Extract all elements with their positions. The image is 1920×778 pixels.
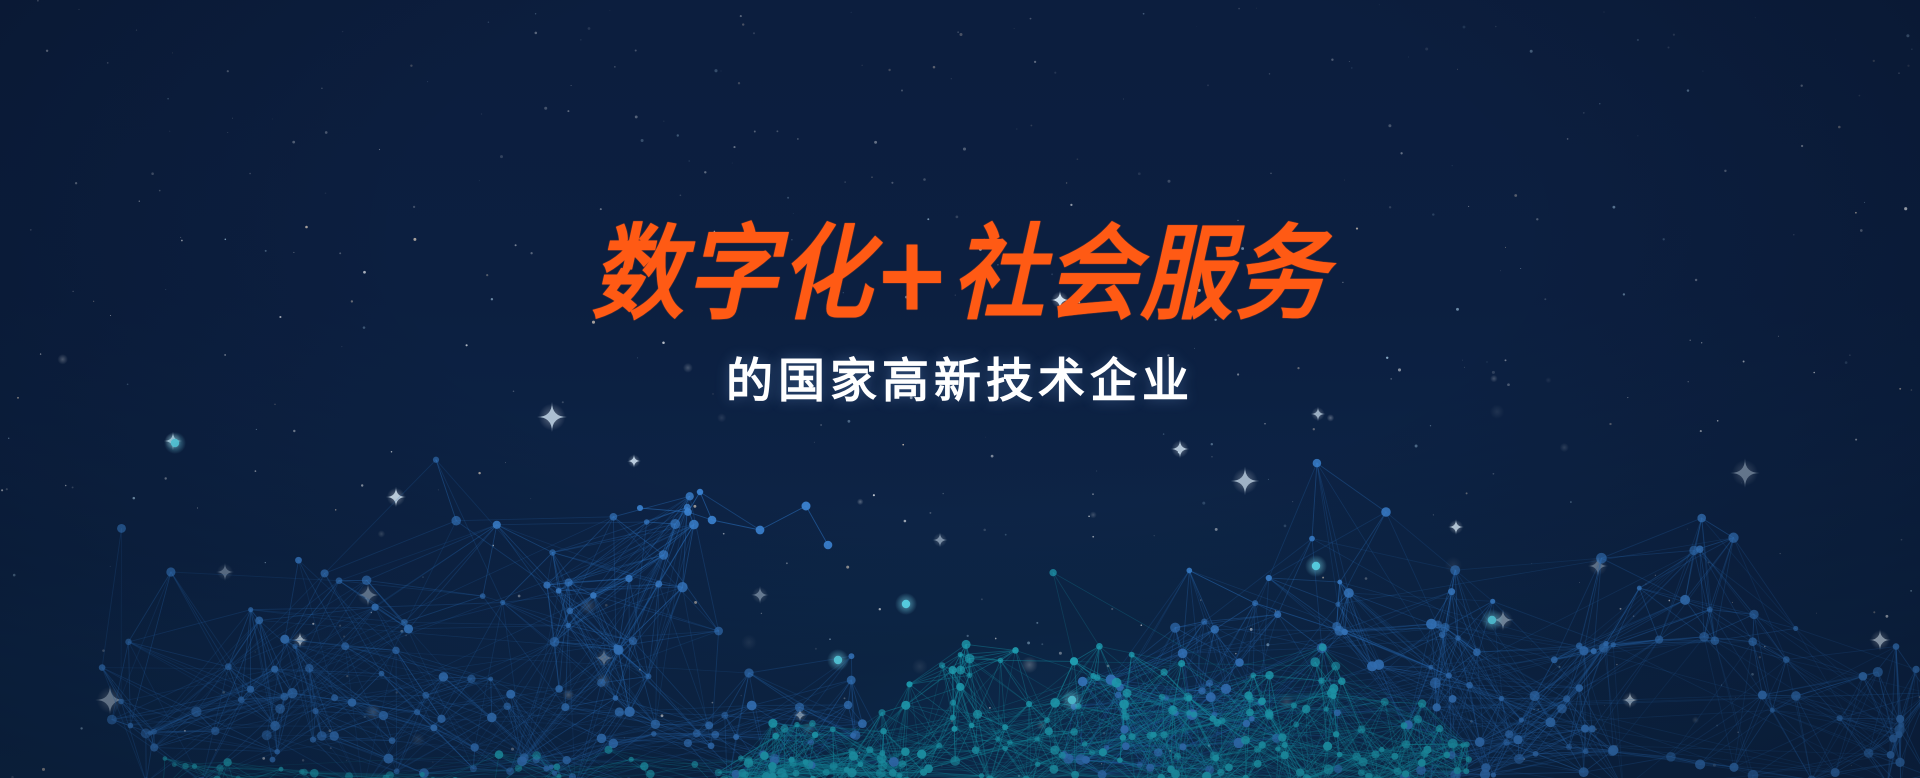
hero-text-block: 数字化+社会服务 的国家高新技术企业	[0, 222, 1920, 411]
hero-banner: 数字化+社会服务 的国家高新技术企业	[0, 0, 1920, 778]
page-subtitle: 的国家高新技术企业	[0, 342, 1920, 411]
page-title: 数字化+社会服务	[0, 222, 1920, 327]
